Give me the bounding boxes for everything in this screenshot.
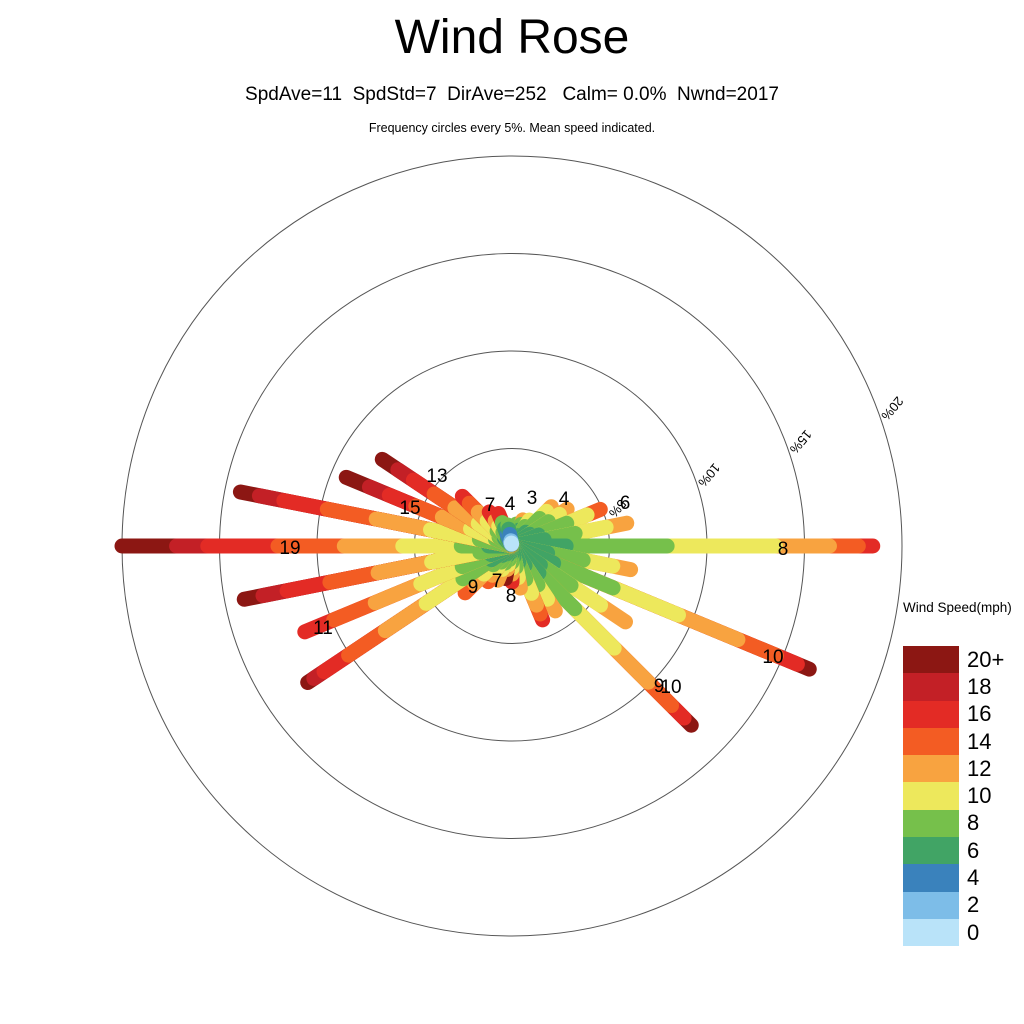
legend-label: 16 (967, 701, 1013, 727)
wind-petals (122, 459, 873, 725)
mean-speed-label: 6 (620, 493, 631, 514)
legend-swatch (903, 919, 959, 946)
legend-label: 20+ (967, 647, 1013, 673)
legend-label: 2 (967, 892, 1013, 918)
mean-speed-label: 8 (506, 586, 517, 607)
legend-row[interactable]: 20+ (903, 646, 1024, 673)
mean-speed-label: 4 (559, 489, 570, 510)
legend-label: 12 (967, 756, 1013, 782)
legend-swatch (903, 810, 959, 837)
legend-label: 14 (967, 729, 1013, 755)
ring-label: 10% (695, 460, 723, 490)
ring-label: 15% (786, 427, 814, 457)
legend-row[interactable]: 2 (903, 892, 1024, 919)
legend-label: 4 (967, 865, 1013, 891)
wind-rose-plot: 5%10%15%20% 1315191197891010864347 (0, 0, 1024, 1024)
legend-row[interactable]: 6 (903, 837, 1024, 864)
legend: Wind Speed(mph) 20+181614121086420 (903, 600, 1024, 946)
legend-row[interactable]: 14 (903, 728, 1024, 755)
legend-swatch (903, 701, 959, 728)
legend-row[interactable]: 16 (903, 701, 1024, 728)
legend-swatch (903, 864, 959, 891)
mean-speed-label: 8 (778, 539, 789, 560)
legend-swatch (903, 755, 959, 782)
mean-speed-label: 7 (485, 495, 496, 516)
mean-speed-label: 15 (399, 498, 420, 519)
legend-row[interactable]: 4 (903, 864, 1024, 891)
mean-speed-label: 11 (313, 618, 333, 639)
mean-speed-label: 7 (492, 571, 503, 592)
legend-label: 6 (967, 838, 1013, 864)
legend-label: 18 (967, 674, 1013, 700)
legend-swatch (903, 646, 959, 673)
ring-label: 20% (878, 394, 906, 424)
mean-speed-label: 3 (527, 488, 538, 509)
legend-label: 8 (967, 810, 1013, 836)
legend-swatch (903, 837, 959, 864)
legend-row[interactable]: 18 (903, 673, 1024, 700)
legend-swatch (903, 892, 959, 919)
legend-swatch (903, 782, 959, 809)
wind-petal[interactable] (508, 525, 512, 544)
mean-speed-label: 19 (279, 538, 300, 559)
mean-speed-label: 13 (426, 466, 447, 487)
mean-speed-label: 10 (762, 647, 783, 668)
legend-label: 10 (967, 783, 1013, 809)
mean-speed-label: 9 (468, 577, 479, 598)
wind-petal[interactable] (513, 547, 691, 725)
mean-speed-label: 10 (660, 677, 681, 698)
legend-row[interactable]: 8 (903, 810, 1024, 837)
mean-speed-label: 4 (505, 494, 516, 515)
ring-labels: 5%10%15%20% (606, 394, 907, 521)
legend-swatch (903, 728, 959, 755)
legend-row[interactable]: 12 (903, 755, 1024, 782)
legend-row[interactable]: 10 (903, 782, 1024, 809)
legend-entries: 20+181614121086420 (903, 646, 1024, 946)
legend-title: Wind Speed(mph) (903, 600, 1024, 615)
legend-row[interactable]: 0 (903, 919, 1024, 946)
wind-rose-page: Wind Rose SpdAve=11 SpdStd=7 DirAve=252 … (0, 0, 1024, 1024)
legend-label: 0 (967, 920, 1013, 946)
legend-swatch (903, 673, 959, 700)
